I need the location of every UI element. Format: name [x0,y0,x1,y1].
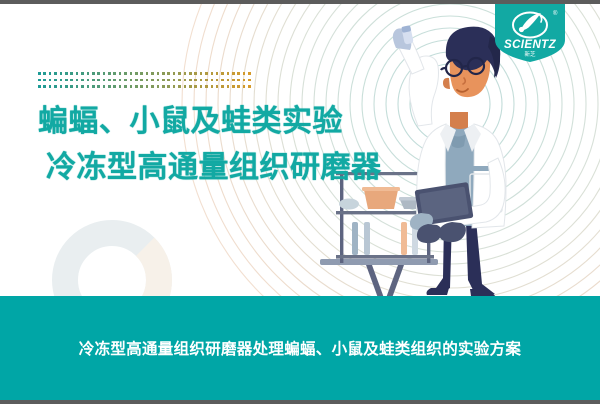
grid-dot [194,72,197,75]
grid-dot [54,72,57,75]
grid-dot [113,72,116,75]
grid-dot [140,85,143,88]
grid-dot [216,85,219,88]
grid-dot [60,79,63,82]
grid-dot [200,79,203,82]
grid-dot [237,79,240,82]
grid-dot [146,85,149,88]
grid-dot [243,85,246,88]
grid-dot [232,85,235,88]
grid-dot [76,79,79,82]
scientz-logo[interactable]: ® SCIENTZ 新芝 [495,4,565,62]
grid-dot [103,85,106,88]
grid-dot [43,72,46,75]
grid-dot [221,85,224,88]
grid-dot [135,72,138,75]
grid-dot [151,79,154,82]
grid-dot [237,72,240,75]
grid-dot [38,72,41,75]
grid-dot [70,85,73,88]
grid-dot [60,85,63,88]
logo-wordmark: SCIENTZ [504,39,557,51]
grid-dot [178,85,181,88]
grid-dot [130,79,133,82]
grid-dot [124,79,127,82]
page-title: 蝙蝠、小鼠及蛙类实验 冷冻型高通量组织研磨器 [38,107,382,183]
grid-dot [140,79,143,82]
grid-dot [227,72,230,75]
title-line-2: 冷冻型高通量组织研磨器 [46,153,382,183]
bottom-chrome-bar [0,400,600,404]
grid-dot [135,79,138,82]
grid-dot [221,79,224,82]
grid-dot [130,72,133,75]
registered-mark: ® [553,10,558,17]
grid-dot [49,85,52,88]
grid-dot [81,72,84,75]
grid-dot [151,85,154,88]
grid-dot [167,79,170,82]
grid-dot [200,85,203,88]
poster-canvas: 蝙蝠、小鼠及蛙类实验 冷冻型高通量组织研磨器 [0,0,600,404]
grid-dot [221,72,224,75]
grid-dot [119,79,122,82]
grid-dot [76,85,79,88]
grid-dot [49,72,52,75]
grid-dot [184,79,187,82]
grid-dot [151,72,154,75]
grid-dot [87,72,90,75]
grid-dot [232,72,235,75]
grid-dot [211,79,214,82]
grid-dot [124,72,127,75]
grid-dot [146,79,149,82]
dot-grid-decoration [38,72,254,92]
grid-dot [178,79,181,82]
grid-dot [146,72,149,75]
grid-dot [119,72,122,75]
grid-dot [130,85,133,88]
bottom-caption-banner: 冷冻型高通量组织研磨器处理蝙蝠、小鼠及蛙类组织的实验方案 [0,296,600,400]
grid-dot [81,79,84,82]
grid-dot [108,85,111,88]
grid-dot [162,85,165,88]
title-line-1: 蝙蝠、小鼠及蛙类实验 [38,107,382,137]
grid-dot [43,79,46,82]
grid-dot [248,72,251,75]
grid-dot [216,72,219,75]
grid-dot [211,85,214,88]
logo-sub-wordmark: 新芝 [524,50,536,58]
grid-dot [237,85,240,88]
grid-dot [70,79,73,82]
grid-dot [38,79,41,82]
grid-dot [65,72,68,75]
grid-dot [87,79,90,82]
grid-dot [194,79,197,82]
grid-dot [140,72,143,75]
grid-dot [184,85,187,88]
grid-dot [103,79,106,82]
grid-dot [108,79,111,82]
scientist-figure [393,25,506,296]
grid-dot [157,79,160,82]
grid-dot [227,79,230,82]
grid-dot [173,79,176,82]
grid-dot [227,85,230,88]
grid-dot [216,79,219,82]
banner-caption: 冷冻型高通量组织研磨器处理蝙蝠、小鼠及蛙类组织的实验方案 [69,337,531,359]
grid-dot [97,72,100,75]
grid-dot [184,72,187,75]
grid-dot [248,79,251,82]
grid-dot [189,85,192,88]
grid-dot [211,72,214,75]
grid-dot [70,72,73,75]
grid-dot [162,79,165,82]
grid-dot [194,85,197,88]
grid-dot [167,85,170,88]
grid-dot [49,79,52,82]
grid-dot [103,72,106,75]
lab-cart [320,172,438,298]
grid-dot [167,72,170,75]
grid-dot [97,79,100,82]
grid-dot [113,79,116,82]
grid-dot [76,72,79,75]
grid-dot [92,79,95,82]
grid-dot [189,79,192,82]
grid-dot [119,85,122,88]
grid-dot [205,79,208,82]
grid-dot [157,85,160,88]
grid-dot [65,85,68,88]
top-chrome-bar [0,0,600,4]
grid-dot [205,85,208,88]
grid-dot [173,85,176,88]
grid-dot [232,79,235,82]
grid-dot [43,85,46,88]
grid-dot [200,72,203,75]
grid-dot [113,85,116,88]
grid-dot [92,72,95,75]
grid-dot [54,85,57,88]
grid-dot [178,72,181,75]
grid-dot [243,72,246,75]
grid-dot [38,85,41,88]
grid-dot [205,72,208,75]
grid-dot [135,85,138,88]
grid-dot [173,72,176,75]
grid-dot [54,79,57,82]
grid-dot [189,72,192,75]
grid-dot [65,79,68,82]
grid-dot [248,85,251,88]
grid-dot [243,79,246,82]
grid-dot [60,72,63,75]
grid-dot [87,85,90,88]
grid-dot [97,85,100,88]
grid-dot [92,85,95,88]
grid-dot [157,72,160,75]
grid-dot [81,85,84,88]
grid-dot [124,85,127,88]
grid-dot [162,72,165,75]
grid-dot [108,72,111,75]
